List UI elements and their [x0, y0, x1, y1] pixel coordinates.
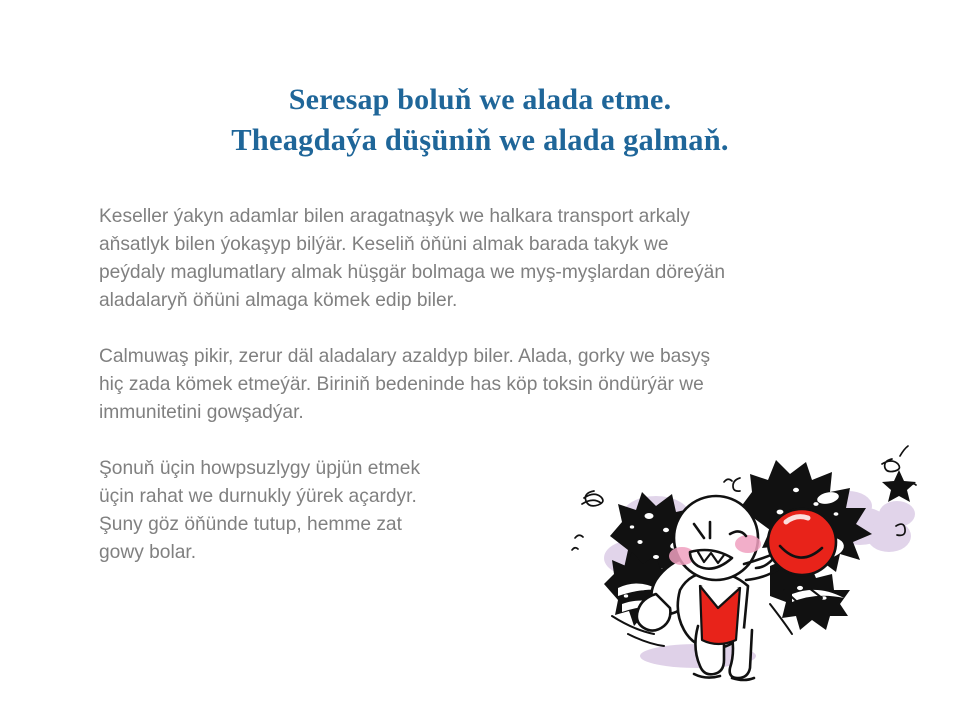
paragraph-2-line-1: Calmuwaş pikir, zerur däl aladalary azal…	[99, 343, 889, 371]
paragraph-2: Calmuwaş pikir, zerur däl aladalary azal…	[99, 343, 889, 427]
slide-title: Seresap boluň we alada etme. Theagdaýa d…	[0, 80, 960, 160]
paragraph-1: Keseller ýakyn adamlar bilen aragatnaşyk…	[99, 203, 889, 315]
paragraph-3: Şonuň üçin howpsuzlygy üpjün etmek üçin …	[99, 455, 529, 567]
title-line-1: Seresap boluň we alada etme.	[0, 80, 960, 120]
title-line-2: Theagdaýa düşüniň we alada galmaň.	[0, 120, 960, 160]
paragraph-2-line-3: immunitetini gowşadýar.	[99, 399, 889, 427]
paragraph-3-line-4: gowy bolar.	[99, 539, 529, 567]
slide-canvas: Seresap boluň we alada etme. Theagdaýa d…	[0, 0, 960, 720]
paragraph-1-line-4: aladalaryň öňüni almaga kömek edip biler…	[99, 287, 889, 315]
paragraph-1-line-3: peýdaly maglumatlary almak hüşgär bolmag…	[99, 259, 889, 287]
paragraph-3-line-2: üçin rahat we durnukly ýürek açardyr.	[99, 483, 529, 511]
star-sparkle	[882, 470, 916, 502]
cheek-right	[735, 535, 761, 553]
paragraph-3-line-3: Şuny göz öňünde tutup, hemme zat	[99, 511, 529, 539]
paragraph-2-line-2: hiç zada kömek etmeýär. Biriniň bedenind…	[99, 371, 889, 399]
paragraph-1-line-1: Keseller ýakyn adamlar bilen aragatnaşyk…	[99, 203, 889, 231]
paragraph-3-line-1: Şonuň üçin howpsuzlygy üpjün etmek	[99, 455, 529, 483]
illustration-cartoon-boxer	[548, 438, 948, 690]
paragraph-1-line-2: aňsatlyk bilen ýokaşyp bilýär. Keseliň ö…	[99, 231, 889, 259]
